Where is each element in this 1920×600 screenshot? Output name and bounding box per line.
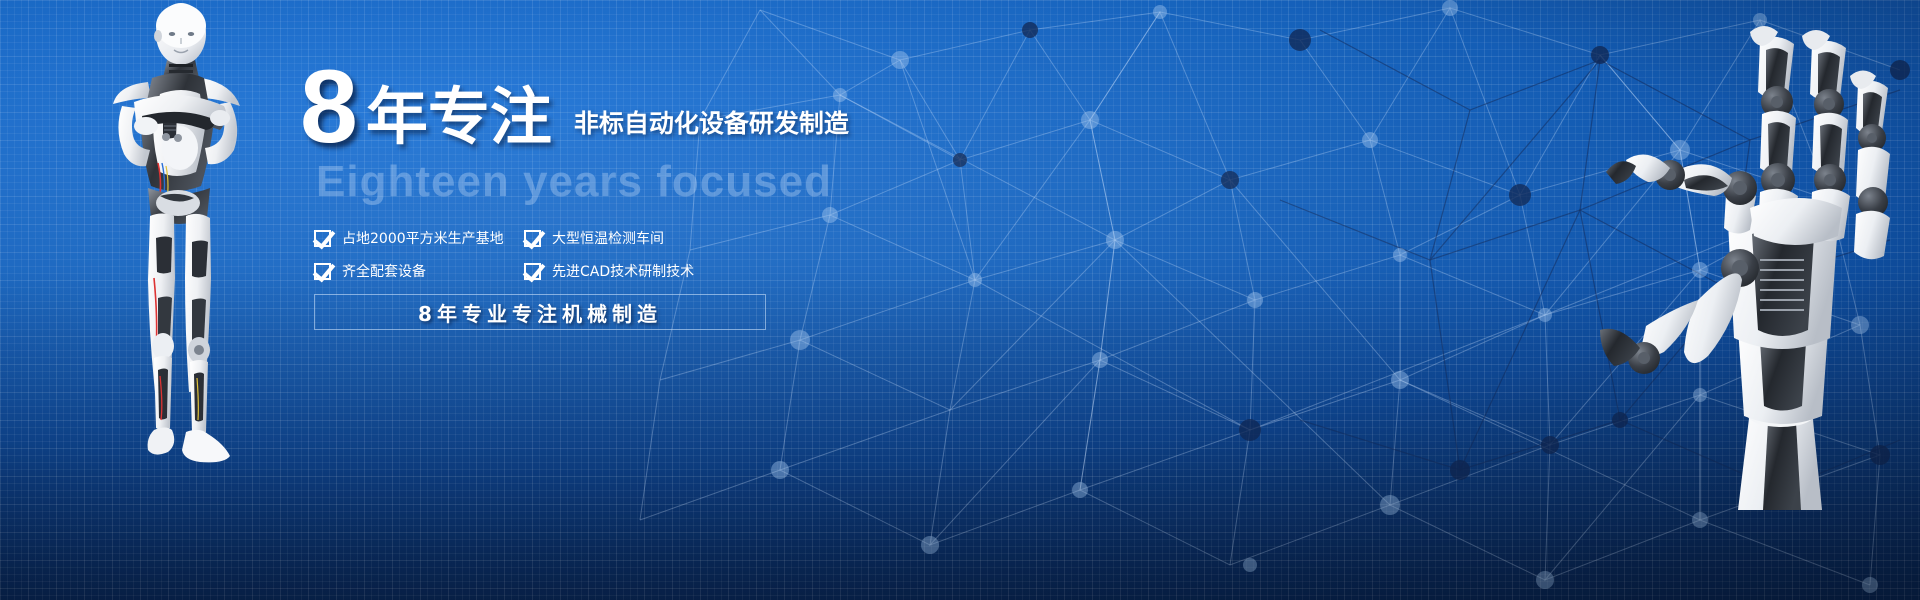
feature-item: 齐全配套设备: [314, 261, 524, 281]
robotic-hand-figure: [1600, 10, 1920, 510]
feature-label: 齐全配套设备: [342, 261, 426, 281]
check-box-icon: [524, 263, 541, 280]
feature-label: 占地2000平方米生产基地: [342, 228, 504, 248]
feature-list: 占地2000平方米生产基地 大型恒温检测车间 齐全配套设备 先进CAD技术研制技…: [314, 228, 764, 281]
headline-number: 8: [300, 63, 356, 152]
headline-row: 8 年专注 非标自动化设备研发制造: [300, 60, 1120, 152]
humanoid-android-figure: [70, 0, 280, 498]
feature-label: 大型恒温检测车间: [552, 228, 664, 248]
tagline-box: 8年专业专注机械制造: [314, 294, 766, 330]
feature-label: 先进CAD技术研制技术: [552, 261, 694, 281]
headline-cn: 年专注: [366, 86, 552, 148]
hero-banner: 8 年专注 非标自动化设备研发制造 Eighteen years focused…: [0, 0, 1920, 600]
feature-item: 占地2000平方米生产基地: [314, 228, 524, 248]
banner-content: 8 年专注 非标自动化设备研发制造 Eighteen years focused…: [300, 60, 1120, 330]
check-box-icon: [314, 263, 331, 280]
check-box-icon: [314, 230, 331, 247]
feature-row: 齐全配套设备 先进CAD技术研制技术: [314, 261, 764, 281]
tagline-text: 8年专业专注机械制造: [418, 298, 662, 327]
headline-english: Eighteen years focused: [316, 158, 1120, 206]
check-box-icon: [524, 230, 541, 247]
feature-row: 占地2000平方米生产基地 大型恒温检测车间: [314, 228, 764, 248]
subheadline: 非标自动化设备研发制造: [574, 104, 849, 140]
feature-item: 先进CAD技术研制技术: [524, 261, 749, 281]
feature-item: 大型恒温检测车间: [524, 228, 749, 248]
